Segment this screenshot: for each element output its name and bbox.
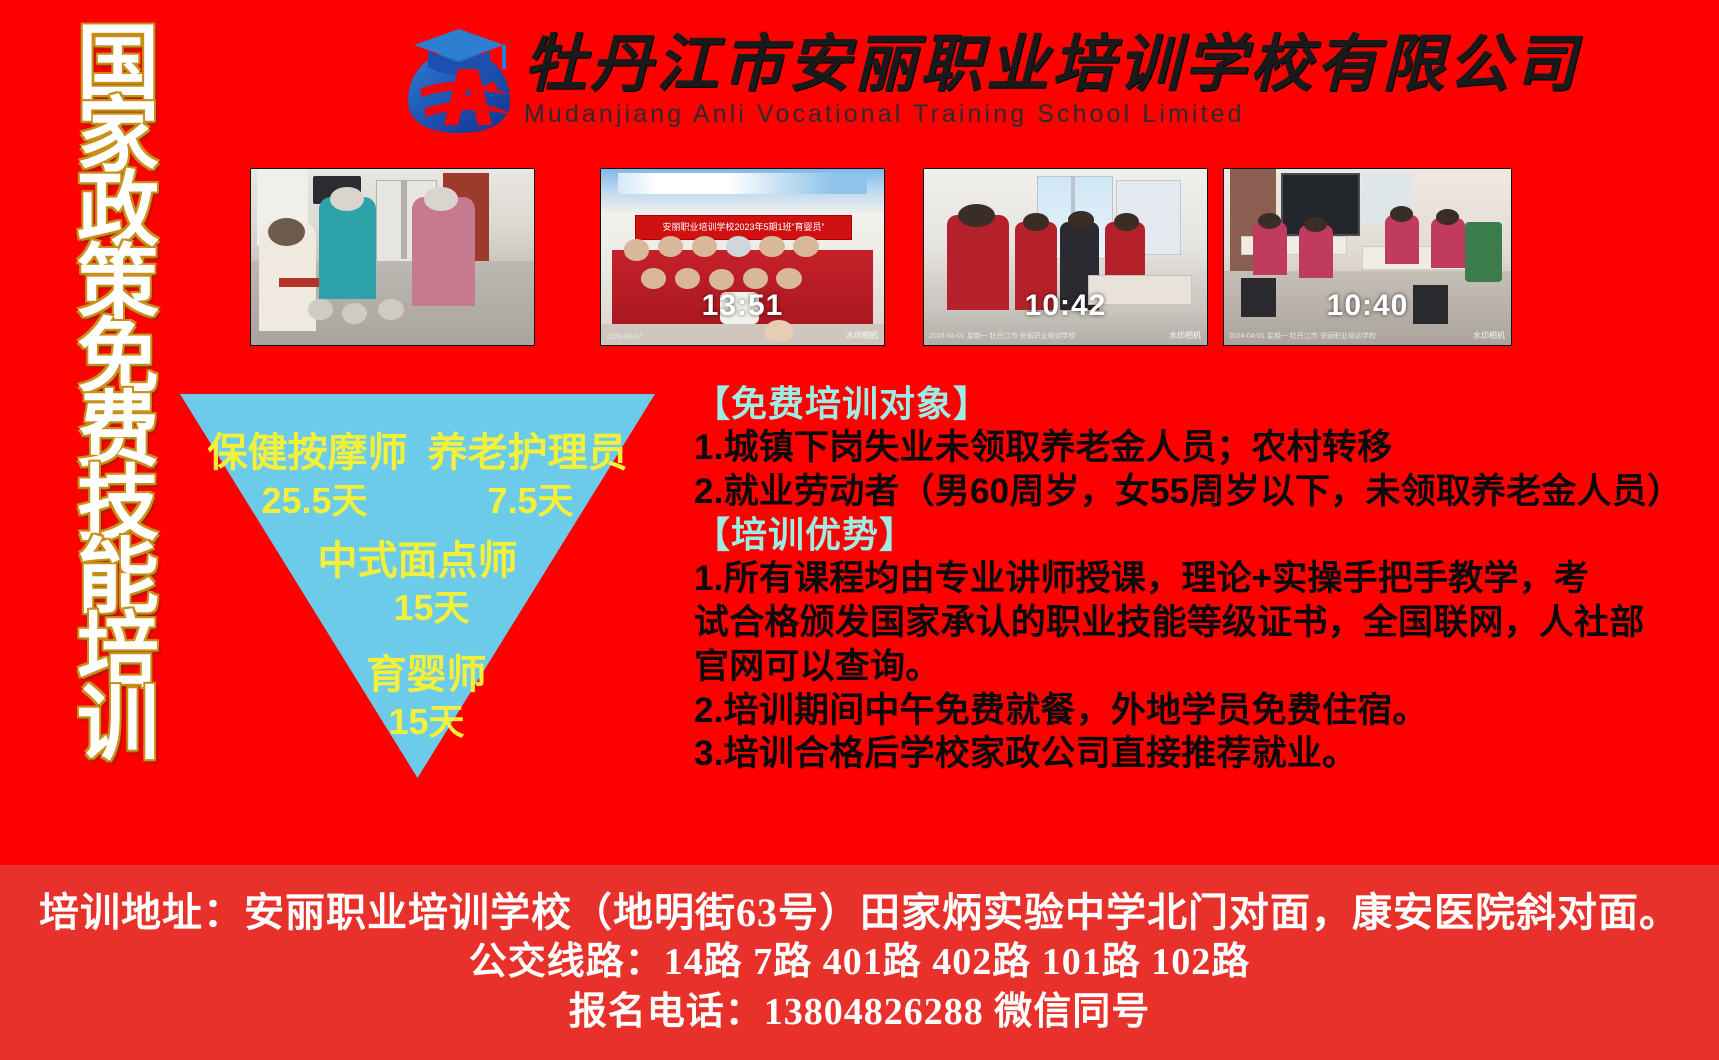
footer-phone: 报名电话：13804826288 微信同号 [0, 985, 1719, 1035]
advantages-line: 2.培训期间中午免费就餐，外地学员免费住宿。 [694, 689, 1700, 733]
vertical-headline-char: 策 [77, 246, 159, 321]
photo-watermark-left: 2024-04-01 星期一 牡丹江市·安丽职业培训学校 [1229, 331, 1376, 341]
triangle-text-layer: 保健按摩师 养老护理员 25.5天 7.5天 中式面点师 15天 育婴师 15天 [180, 394, 655, 778]
photo-watermark-left: 2023-08-07 [606, 334, 642, 341]
vertical-headline-char: 政 [77, 173, 159, 248]
advantages-line: 1.所有课程均由专业讲师授课，理论+实操手把手教学，考 [694, 557, 1700, 601]
photo-timestamp: 10:42 [1025, 289, 1107, 323]
vertical-headline-char: 费 [77, 393, 159, 468]
course-duration-1: 25.5天 [261, 472, 367, 524]
info-panel: 【免费培训对象】 1.城镇下岗失业未领取养老金人员；农村转移 2.就业劳动者（男… [694, 382, 1700, 776]
graduation-cap-logo-icon [400, 25, 518, 137]
company-name-block: 牡丹江市安丽职业培训学校有限公司 Mudanjiang Anli Vocatio… [524, 33, 1580, 129]
photo-watermark: 水印相机 [846, 330, 878, 341]
photo-timestamp: 10:40 [1327, 289, 1409, 323]
course-name-1: 保健按摩师 [208, 420, 408, 478]
photo-watermark-left: 2024-04-01 星期一 牡丹江市 安丽职业培训学校 [929, 331, 1076, 341]
photo-elder-care-practice: 10:42 2024-04-01 星期一 牡丹江市 安丽职业培训学校 水印相机 [923, 168, 1208, 346]
company-name-en: Mudanjiang Anli Vocational Training Scho… [524, 100, 1580, 129]
footer-address: 培训地址：安丽职业培训学校（地明街63号）田家炳实验中学北门对面，康安医院斜对面… [0, 865, 1719, 935]
photo-watermark: 水印相机 [1473, 330, 1505, 341]
course-duration-3: 15天 [180, 579, 655, 631]
poster-header: 牡丹江市安丽职业培训学校有限公司 Mudanjiang Anli Vocatio… [400, 22, 1580, 140]
footer-contact-band: 培训地址：安丽职业培训学校（地明街63号）田家炳实验中学北门对面，康安医院斜对面… [0, 865, 1719, 1060]
vertical-headline-char: 培 [77, 614, 159, 689]
advantages-heading: 【培训优势】 [694, 513, 1700, 557]
footer-bus-routes: 公交线路：14路 7路 401路 402路 101路 102路 [0, 935, 1719, 985]
photo-watermark: 水印相机 [1169, 330, 1201, 341]
vertical-headline-char: 免 [77, 320, 159, 395]
photo-strip: 安丽职业培训学校2023年5期1班“育婴员” 13:51 2023-08-07 [250, 168, 1512, 346]
photo-timestamp: 13:51 [702, 289, 784, 323]
course-triangle: 保健按摩师 养老护理员 25.5天 7.5天 中式面点师 15天 育婴师 15天 [180, 394, 655, 778]
vertical-headline-char: 训 [77, 687, 159, 762]
poster-root: 国 家 政 策 免 费 技 能 培 训 [0, 0, 1719, 1060]
photo-pastry-class [250, 168, 535, 346]
advantages-line: 官网可以查询。 [694, 645, 1700, 689]
vertical-headline: 国 家 政 策 免 费 技 能 培 训 [62, 26, 174, 786]
advantages-line: 试合格颁发国家承认的职业技能等级证书，全国联网，人社部 [694, 601, 1700, 645]
vertical-headline-char: 家 [77, 99, 159, 174]
triangle-duration-row-top: 25.5天 7.5天 [180, 472, 655, 524]
course-duration-2: 7.5天 [488, 472, 574, 524]
vertical-headline-char: 技 [77, 467, 159, 542]
photo-group-class: 安丽职业培训学校2023年5期1班“育婴员” 13:51 2023-08-07 [600, 168, 885, 346]
eligibility-heading: 【免费培训对象】 [694, 382, 1700, 426]
photo-classroom-training: 10:40 2024-04-01 星期一 牡丹江市·安丽职业培训学校 水印相机 [1223, 168, 1512, 346]
company-name-cn: 牡丹江市安丽职业培训学校有限公司 [524, 33, 1580, 98]
triangle-course-row-top: 保健按摩师 养老护理员 [180, 420, 655, 478]
advantages-line: 3.培训合格后学校家政公司直接推荐就业。 [694, 732, 1700, 776]
eligibility-line: 2.就业劳动者（男60周岁，女55周岁以下，未领取养老金人员） [694, 470, 1700, 514]
vertical-headline-char: 能 [77, 540, 159, 615]
course-name-2: 养老护理员 [428, 420, 628, 478]
course-name-4: 育婴师 [180, 642, 655, 700]
course-name-3: 中式面点师 [180, 528, 655, 586]
eligibility-line: 1.城镇下岗失业未领取养老金人员；农村转移 [694, 426, 1700, 470]
course-duration-4: 15天 [180, 693, 655, 745]
